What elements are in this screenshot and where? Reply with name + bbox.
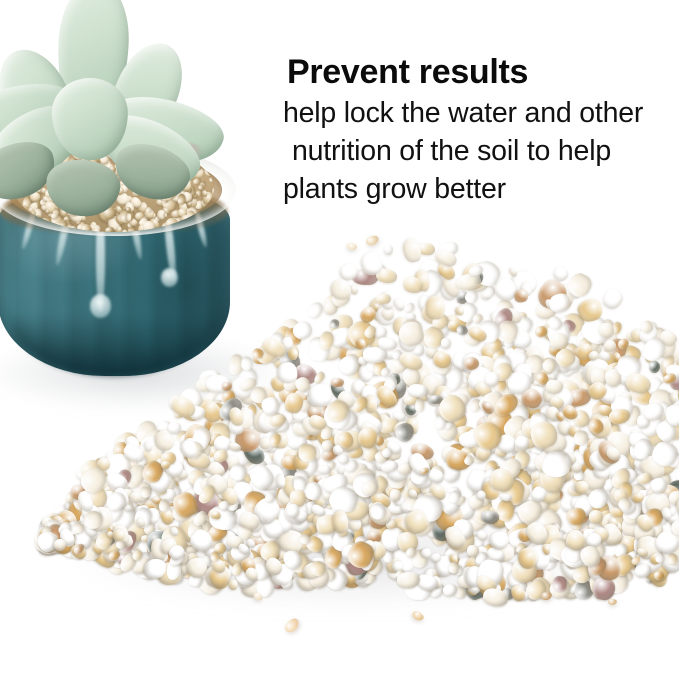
- gravel-pebble: [329, 287, 353, 311]
- gravel-pebble: [361, 444, 382, 465]
- gravel-pebble: [665, 507, 676, 517]
- gravel-pebble: [137, 443, 166, 472]
- gravel-pebble: [501, 369, 518, 387]
- gravel-pebble: [490, 344, 508, 362]
- gravel-pebble: [402, 301, 415, 315]
- gravel-pebble: [268, 447, 284, 463]
- gravel-pebble: [570, 515, 583, 530]
- gravel-pebble: [420, 258, 444, 282]
- gravel-pebble: [290, 435, 324, 469]
- gravel-pebble: [599, 323, 614, 339]
- gravel-pebble: [668, 372, 679, 391]
- gravel-pebble: [205, 475, 217, 490]
- gravel-pebble: [360, 442, 376, 458]
- gravel-pebble: [418, 371, 446, 399]
- gravel-pebble: [612, 455, 640, 484]
- text-block: Prevent results help lock the water and …: [283, 52, 679, 208]
- gravel-pebble: [165, 466, 177, 481]
- gravel-pebble: [464, 467, 492, 496]
- gravel-pebble: [46, 527, 72, 554]
- gravel-pebble: [285, 380, 306, 398]
- gravel-pebble: [585, 486, 611, 512]
- gravel-pebble: [619, 343, 643, 367]
- gravel-pebble: [137, 492, 164, 517]
- gravel-pebble: [542, 479, 560, 497]
- gravel-pebble: [602, 338, 618, 354]
- gravel-pebble: [74, 514, 104, 544]
- gravel-pebble: [391, 419, 411, 439]
- gravel-pebble: [483, 441, 497, 455]
- gravel-pebble: [455, 271, 482, 292]
- gravel-pebble: [78, 509, 92, 524]
- gravel-pebble: [604, 479, 639, 514]
- gravel-pebble: [95, 515, 125, 541]
- gravel-pebble: [586, 447, 613, 475]
- gravel-pebble: [458, 350, 486, 378]
- gravel-pebble: [623, 497, 651, 525]
- gravel-pebble: [622, 403, 643, 428]
- gravel-pebble: [209, 495, 228, 514]
- gravel-pebble: [447, 495, 477, 523]
- gravel-pebble: [520, 417, 543, 440]
- gravel-pebble: [32, 523, 65, 554]
- gravel-pebble: [275, 449, 288, 464]
- gravel-pebble: [423, 312, 453, 342]
- gravel-pebble: [190, 425, 215, 453]
- gravel-pebble: [424, 469, 434, 480]
- gravel-pebble: [674, 455, 679, 478]
- gravel-pebble: [663, 359, 679, 381]
- gravel-pebble: [81, 479, 91, 488]
- gravel-pebble: [154, 474, 180, 503]
- gravel-pebble: [368, 473, 390, 496]
- gravel-pebble: [392, 297, 406, 312]
- gravel-pebble: [87, 517, 107, 537]
- gravel-pebble: [137, 455, 147, 465]
- gravel-pebble: [120, 475, 134, 489]
- gravel-pebble: [163, 473, 172, 483]
- gravel-pebble: [490, 359, 515, 384]
- gravel-pebble: [325, 460, 337, 472]
- gravel-pebble: [210, 510, 221, 520]
- gravel-pebble: [572, 437, 599, 465]
- gravel-pebble: [187, 445, 214, 472]
- gravel-pebble: [455, 306, 464, 316]
- gravel-pebble: [347, 487, 373, 513]
- gravel-pebble: [670, 519, 679, 547]
- gravel-pebble: [194, 471, 220, 493]
- gravel-pebble: [222, 434, 230, 445]
- gravel-pebble: [636, 490, 651, 501]
- gravel-pebble: [495, 447, 507, 458]
- gravel-pebble: [46, 523, 73, 548]
- gravel-pebble: [355, 338, 366, 350]
- gravel-pebble: [61, 519, 82, 537]
- gravel-pebble: [332, 397, 356, 420]
- gravel-pebble: [223, 447, 238, 462]
- gravel-pebble: [451, 456, 464, 471]
- pot-bottom-shading: [10, 314, 216, 376]
- gravel-pebble: [58, 540, 70, 552]
- gravel-pebble: [571, 408, 592, 430]
- gravel-pebble: [304, 404, 325, 425]
- gravel-pebble: [397, 350, 425, 374]
- potted-succulent-plant: [0, 0, 278, 386]
- gravel-pebble: [345, 473, 357, 484]
- gravel-pebble: [373, 412, 397, 440]
- gravel-pebble: [291, 360, 320, 387]
- gravel-pebble: [265, 503, 274, 516]
- gravel-pebble: [135, 516, 147, 529]
- gravel-pebble: [527, 418, 560, 451]
- gravel-pebble: [404, 401, 418, 416]
- gravel-pebble: [168, 421, 183, 435]
- gravel-pebble: [584, 332, 602, 352]
- gravel-pebble: [512, 347, 525, 361]
- gravel-pebble: [355, 411, 376, 432]
- gravel-pebble: [411, 449, 426, 462]
- gravel-pebble: [536, 445, 564, 473]
- gravel-pebble: [560, 310, 588, 338]
- gravel-pebble: [276, 474, 286, 489]
- gravel-pebble: [483, 407, 517, 442]
- gravel-pebble: [479, 436, 493, 448]
- gravel-pebble: [106, 494, 136, 524]
- gravel-pebble: [542, 442, 556, 456]
- gravel-pebble: [89, 519, 117, 544]
- gravel-pebble: [99, 484, 120, 504]
- gravel-pebble: [87, 462, 116, 490]
- gravel-pebble: [206, 454, 218, 466]
- gravel-pebble: [540, 403, 559, 420]
- gravel-pebble: [491, 346, 508, 364]
- gravel-pebble: [193, 475, 214, 497]
- gravel-pebble: [624, 449, 645, 471]
- gravel-pebble: [483, 465, 501, 483]
- gravel-pebble: [306, 381, 336, 410]
- gravel-pebble: [303, 447, 321, 463]
- stray-gravel-pebble: [630, 554, 642, 566]
- gravel-pebble: [397, 369, 413, 386]
- gravel-pebble: [455, 289, 470, 305]
- gravel-pebble: [158, 479, 174, 496]
- gravel-pebble: [650, 488, 664, 502]
- gravel-pebble: [456, 364, 476, 389]
- gravel-pebble: [569, 460, 583, 474]
- gravel-pebble: [397, 331, 418, 354]
- gravel-pebble: [665, 546, 679, 566]
- gravel-pebble: [120, 489, 135, 500]
- gravel-pebble: [604, 444, 623, 463]
- gravel-pebble: [578, 437, 596, 457]
- gravel-pebble: [90, 491, 101, 502]
- gravel-pebble: [617, 407, 634, 421]
- gravel-pebble: [465, 452, 475, 464]
- gravel-pebble: [563, 364, 576, 377]
- gravel-pebble: [259, 394, 282, 417]
- gravel-pebble: [96, 492, 111, 503]
- gravel-pebble: [277, 470, 289, 480]
- gravel-pebble: [467, 435, 494, 461]
- gravel-pebble: [619, 392, 632, 404]
- gravel-pebble: [169, 438, 188, 457]
- gravel-pebble: [42, 524, 57, 541]
- gravel-pebble: [48, 529, 67, 552]
- gravel-pebble: [287, 435, 299, 446]
- gravel-pebble: [639, 319, 656, 336]
- gravel-pebble: [473, 379, 495, 400]
- gravel-pebble: [250, 481, 277, 508]
- gravel-pebble: [411, 450, 426, 465]
- gravel-pebble: [179, 433, 196, 448]
- gravel-pebble: [189, 467, 207, 485]
- gravel-pebble: [414, 498, 426, 509]
- gravel-pebble: [515, 421, 532, 438]
- gravel-pebble: [365, 357, 381, 373]
- gravel-pebble: [433, 247, 459, 270]
- gravel-pebble: [457, 442, 479, 463]
- gravel-pebble: [635, 463, 651, 479]
- gravel-pebble: [522, 453, 541, 473]
- gravel-pebble: [326, 420, 348, 442]
- gravel-pebble: [238, 436, 246, 447]
- gravel-pebble: [147, 465, 181, 499]
- gravel-pebble: [53, 508, 85, 539]
- gravel-pebble: [337, 331, 362, 351]
- gravel-pebble: [573, 340, 596, 363]
- gravel-pebble: [128, 489, 147, 507]
- gravel-pebble: [387, 350, 415, 377]
- gravel-pebble: [317, 465, 330, 475]
- gravel-pebble: [94, 458, 105, 471]
- gravel-pebble: [376, 305, 396, 326]
- gravel-pebble: [662, 417, 679, 443]
- gravel-pebble: [600, 329, 620, 350]
- gravel-pebble: [175, 468, 189, 482]
- gravel-pebble: [94, 515, 105, 526]
- gravel-pebble: [75, 489, 95, 513]
- gravel-pebble: [322, 493, 332, 501]
- gravel-pebble: [298, 443, 316, 462]
- gravel-pebble: [511, 362, 533, 384]
- gravel-pebble: [69, 501, 83, 514]
- gravel-pebble: [493, 336, 502, 349]
- gravel-pebble: [492, 306, 515, 331]
- gravel-pebble: [40, 515, 55, 530]
- gravel-pebble: [592, 523, 607, 540]
- gravel-pebble: [318, 331, 335, 352]
- gravel-pebble: [631, 432, 659, 460]
- gravel-pebble: [275, 486, 292, 512]
- gravel-pebble: [417, 268, 445, 299]
- gravel-pebble: [592, 406, 617, 428]
- gravel-pebble: [379, 290, 394, 310]
- gravel-pebble: [553, 345, 579, 371]
- gravel-pebble: [47, 524, 64, 548]
- gravel-pebble: [107, 480, 121, 496]
- gravel-pebble: [410, 363, 428, 381]
- gravel-pebble: [422, 369, 449, 394]
- gravel-pebble: [104, 516, 121, 530]
- gravel-pebble: [541, 451, 572, 478]
- gravel-pebble: [347, 383, 373, 409]
- gravel-pebble: [48, 539, 65, 551]
- gravel-pebble: [440, 273, 464, 300]
- gravel-pebble: [654, 336, 678, 360]
- gravel-pebble: [593, 377, 619, 407]
- gravel-pebble: [435, 261, 458, 283]
- gravel-pebble: [291, 449, 322, 480]
- gravel-pebble: [507, 423, 534, 451]
- gravel-pebble: [368, 261, 389, 282]
- succulent-rosette: [0, 0, 278, 244]
- gravel-pebble: [301, 500, 318, 517]
- gravel-pebble: [101, 466, 116, 481]
- gravel-pebble: [206, 445, 225, 464]
- gravel-pebble: [136, 489, 149, 502]
- gravel-pebble: [81, 501, 100, 520]
- gravel-pebble: [182, 436, 200, 456]
- gravel-pebble: [486, 336, 504, 354]
- gravel-pebble: [242, 457, 271, 485]
- gravel-pebble: [73, 523, 84, 531]
- gravel-pebble: [609, 465, 634, 492]
- gravel-pebble: [228, 441, 243, 454]
- gravel-pebble: [667, 553, 678, 565]
- gravel-pebble: [416, 391, 430, 403]
- gravel-pebble: [369, 501, 387, 521]
- gravel-pebble: [491, 353, 513, 379]
- gravel-pebble: [42, 528, 56, 538]
- gravel-pebble: [592, 525, 612, 544]
- gravel-pebble: [179, 429, 199, 449]
- gravel-pebble: [511, 448, 533, 471]
- gravel-pebble: [655, 399, 673, 417]
- gravel-pebble: [571, 505, 588, 519]
- gravel-pebble: [320, 416, 333, 429]
- gravel-pebble: [659, 329, 679, 348]
- gravel-pebble: [194, 436, 209, 457]
- gravel-pebble: [107, 505, 123, 522]
- gravel-pebble: [228, 462, 248, 483]
- gravel-pebble: [618, 481, 633, 500]
- gravel-pebble: [315, 392, 329, 406]
- gravel-pebble: [560, 402, 580, 422]
- gravel-pebble: [115, 501, 132, 518]
- gravel-pebble: [78, 457, 104, 483]
- gravel-pebble: [177, 497, 189, 509]
- description-line-3: plants grow better: [283, 170, 679, 208]
- gravel-pebble: [478, 341, 504, 367]
- gravel-pebble: [526, 381, 559, 413]
- gravel-pebble: [286, 448, 311, 469]
- gravel-pebble: [563, 451, 579, 467]
- gravel-pebble: [409, 497, 430, 517]
- gravel-pebble: [521, 397, 546, 420]
- gravel-pebble: [603, 359, 626, 380]
- gravel-pebble: [246, 461, 277, 492]
- gravel-pebble: [567, 484, 586, 497]
- gravel-pebble: [649, 477, 668, 495]
- gravel-pebble: [388, 371, 402, 385]
- gravel-pebble: [50, 501, 78, 525]
- gravel-pebble: [500, 492, 513, 502]
- gravel-pebble: [361, 346, 381, 365]
- gravel-pebble: [226, 463, 253, 488]
- gravel-pebble: [287, 495, 312, 520]
- stray-gravel-pebble: [364, 233, 380, 247]
- gravel-pebble: [193, 430, 214, 451]
- gravel-pebble: [447, 319, 460, 331]
- gravel-pebble: [626, 537, 654, 562]
- gravel-pebble: [383, 476, 408, 499]
- gravel-pebble: [304, 486, 332, 513]
- gravel-pebble: [309, 415, 320, 427]
- gravel-pebble: [141, 496, 164, 520]
- gravel-pebble: [280, 406, 298, 426]
- gravel-pebble: [513, 427, 541, 452]
- gravel-pebble: [50, 532, 76, 558]
- gravel-pebble: [426, 467, 446, 486]
- gravel-pebble: [56, 539, 73, 555]
- gravel-pebble: [373, 413, 385, 425]
- gravel-pebble: [671, 421, 679, 440]
- gravel-pebble: [554, 349, 585, 379]
- gravel-pebble: [557, 313, 574, 330]
- gravel-pebble: [343, 429, 368, 450]
- gravel-pebble: [610, 321, 623, 336]
- gravel-pebble: [334, 407, 361, 433]
- gravel-pebble: [483, 458, 499, 475]
- gravel-pebble: [434, 394, 467, 425]
- gravel-pebble: [328, 325, 355, 350]
- gravel-pebble: [193, 452, 215, 468]
- gravel-pebble: [103, 504, 118, 518]
- gravel-pebble: [209, 481, 236, 506]
- gravel-pebble: [413, 503, 429, 520]
- gravel-pebble: [286, 503, 300, 518]
- gravel-pebble: [373, 449, 389, 466]
- gravel-pebble: [626, 332, 643, 343]
- gravel-pebble: [447, 448, 459, 460]
- gravel-pebble: [400, 364, 423, 389]
- gravel-pebble: [69, 540, 80, 553]
- gravel-pebble: [364, 395, 378, 414]
- gravel-pebble: [103, 489, 129, 514]
- gravel-pebble: [84, 524, 100, 539]
- gravel-pebble: [415, 242, 434, 256]
- gravel-pebble: [68, 487, 97, 516]
- gravel-pebble: [622, 442, 650, 473]
- gravel-pebble: [212, 448, 229, 464]
- gravel-pebble: [647, 405, 676, 435]
- gravel-pebble: [383, 497, 408, 518]
- gravel-pebble: [334, 337, 369, 372]
- gravel-pebble: [272, 464, 300, 488]
- gravel-pebble: [256, 464, 280, 488]
- gravel-pebble: [306, 405, 330, 426]
- gravel-pebble: [106, 464, 122, 479]
- gravel-pebble: [306, 300, 325, 321]
- gravel-pebble: [591, 468, 611, 489]
- gravel-pebble: [320, 342, 346, 363]
- gravel-pebble: [415, 289, 445, 320]
- gravel-pebble: [535, 454, 554, 473]
- gravel-pebble: [149, 472, 160, 482]
- gravel-pebble: [498, 342, 534, 378]
- gravel-pebble: [306, 496, 330, 521]
- gravel-pebble: [226, 417, 246, 438]
